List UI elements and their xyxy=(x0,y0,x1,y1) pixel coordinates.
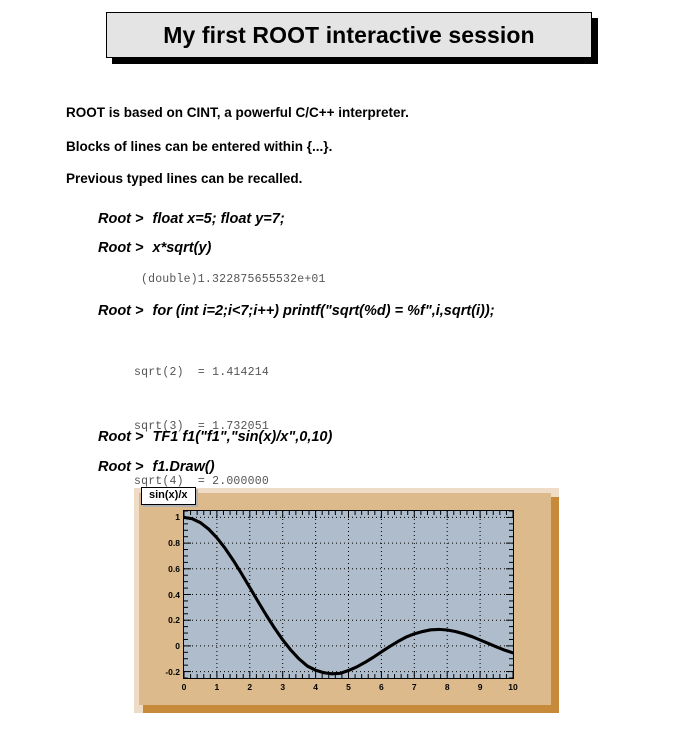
prompt-command: for (int i=2;i<7;i++) printf("sqrt(%d) =… xyxy=(153,303,495,319)
x-axis-tick-label: 0 xyxy=(172,682,196,692)
session-prompt-line-3: Root >for (int i=2;i<7;i++) printf("sqrt… xyxy=(98,303,495,319)
y-axis-tick-label: -0.2 xyxy=(140,667,180,677)
console-output-line: sqrt(2) = 1.414214 xyxy=(134,364,269,382)
session-prompt-line-1: Root >float x=5; float y=7; xyxy=(98,211,285,227)
x-axis-tick-label: 9 xyxy=(468,682,492,692)
prompt-label: Root > xyxy=(98,211,144,227)
root-canvas-window[interactable]: sin(x)/x -0.200.20.40.60.81 012345678910 xyxy=(134,488,559,713)
prompt-command: TF1 f1("f1","sin(x)/x",0,10) xyxy=(153,429,333,445)
prompt-command: f1.Draw() xyxy=(153,459,215,475)
x-axis-tick-label: 10 xyxy=(501,682,525,692)
plot-gridlines xyxy=(184,511,513,678)
plot-svg xyxy=(184,511,513,678)
body-paragraph-2: Blocks of lines can be entered within {.… xyxy=(66,139,332,154)
x-axis-tick-label: 3 xyxy=(271,682,295,692)
x-axis-tick-label: 7 xyxy=(402,682,426,692)
y-axis-tick-label: 0 xyxy=(140,641,180,651)
prompt-label: Root > xyxy=(98,303,144,319)
x-axis-tick-label: 6 xyxy=(369,682,393,692)
x-axis-tick-label: 1 xyxy=(205,682,229,692)
session-prompt-line-2: Root >x*sqrt(y) xyxy=(98,240,211,256)
plot-frame xyxy=(183,510,514,679)
y-axis-tick-label: 0.8 xyxy=(140,538,180,548)
prompt-label: Root > xyxy=(98,429,144,445)
x-axis-tick-label: 4 xyxy=(304,682,328,692)
slide-title-banner: My first ROOT interactive session xyxy=(106,12,592,58)
y-axis-tick-label: 0.4 xyxy=(140,590,180,600)
body-paragraph-1: ROOT is based on CINT, a powerful C/C++ … xyxy=(66,105,409,120)
prompt-label: Root > xyxy=(98,240,144,256)
x-axis-tick-label: 8 xyxy=(435,682,459,692)
prompt-label: Root > xyxy=(98,459,144,475)
session-prompt-line-5: Root >f1.Draw() xyxy=(98,459,215,475)
console-output-double: (double)1.322875655532e+01 xyxy=(141,273,326,286)
session-prompt-line-4: Root >TF1 f1("f1","sin(x)/x",0,10) xyxy=(98,429,332,445)
prompt-command: float x=5; float y=7; xyxy=(153,211,285,227)
y-axis-tick-label: 0.6 xyxy=(140,564,180,574)
y-axis-tick-label: 1 xyxy=(140,512,180,522)
x-axis-tick-label: 2 xyxy=(238,682,262,692)
prompt-command: x*sqrt(y) xyxy=(153,240,212,256)
body-paragraph-3: Previous typed lines can be recalled. xyxy=(66,171,302,186)
page-title: My first ROOT interactive session xyxy=(163,22,534,49)
x-axis-tick-label: 5 xyxy=(337,682,361,692)
plot-title-box: sin(x)/x xyxy=(141,487,196,505)
y-axis-tick-label: 0.2 xyxy=(140,615,180,625)
